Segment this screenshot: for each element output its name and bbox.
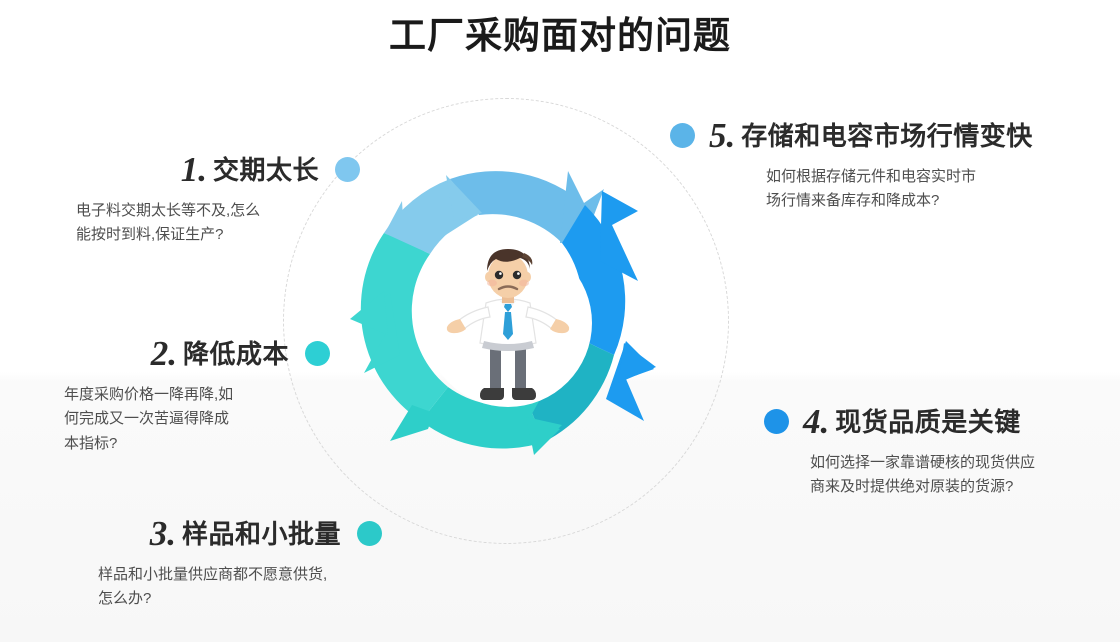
left-eye — [495, 271, 503, 279]
problem-item-1-heading: 交期太长 — [213, 157, 319, 183]
problem-item-3-header: 3. 样品和小批量 — [92, 516, 382, 551]
problem-item-4-number: 4. — [803, 404, 829, 439]
problem-item-1-header: 1. 交期太长 — [70, 152, 360, 187]
problem-item-4-heading: 现货品质是关键 — [835, 409, 1021, 435]
problem-item-5-number: 5. — [709, 118, 735, 153]
problem-item-3: 3. 样品和小批量 样品和小批量供应商都不愿意供货, 怎么办? — [92, 516, 382, 612]
right-shoe — [512, 388, 536, 400]
problem-item-4: 4. 现货品质是关键 如何选择一家靠谱硬核的现货供应 商来及时提供绝对原装的货源… — [764, 404, 1064, 500]
left-shoe — [480, 388, 504, 400]
right-eye-glint — [517, 272, 520, 275]
left-eye-glint — [499, 272, 502, 275]
problem-item-4-header: 4. 现货品质是关键 — [764, 404, 1064, 439]
problem-item-2-header: 2. 降低成本 — [52, 336, 330, 371]
problem-item-1-number: 1. — [181, 152, 207, 187]
problem-item-1-description: 电子料交期太长等不及,怎么 能按时到料,保证生产? — [76, 199, 360, 248]
problem-item-3-description: 样品和小批量供应商都不愿意供货, 怎么办? — [98, 563, 382, 612]
problem-item-3-number: 3. — [150, 516, 176, 551]
problem-item-5-header: 5. 存储和电容市场行情变快 — [670, 118, 1070, 153]
page-title: 工厂采购面对的问题 — [0, 8, 1120, 64]
shrugging-businessman-illustration — [424, 239, 592, 407]
problem-item-5-description: 如何根据存储元件和电容实时市 场行情来备库存和降成本? — [766, 165, 1070, 214]
problem-item-5-heading: 存储和电容市场行情变快 — [741, 123, 1033, 149]
problem-item-3-dot — [357, 521, 382, 546]
problem-item-5-dot — [670, 123, 695, 148]
left-cheek — [487, 280, 497, 287]
right-cheek — [519, 280, 529, 287]
problem-item-2-description: 年度采购价格一降再降,如 何完成又一次苦逼得降成 本指标? — [64, 383, 330, 456]
problem-item-1: 1. 交期太长 电子料交期太长等不及,怎么 能按时到料,保证生产? — [70, 152, 360, 248]
problem-item-4-dot — [764, 409, 789, 434]
problem-item-5: 5. 存储和电容市场行情变快 如何根据存储元件和电容实时市 场行情来备库存和降成… — [670, 118, 1070, 214]
right-eye — [513, 271, 521, 279]
problem-item-2-heading: 降低成本 — [183, 341, 289, 367]
problem-item-2-number: 2. — [151, 336, 177, 371]
problem-item-1-dot — [335, 157, 360, 182]
problem-item-4-description: 如何选择一家靠谱硬核的现货供应 商来及时提供绝对原装的货源? — [810, 451, 1064, 500]
problem-item-2-dot — [305, 341, 330, 366]
arrow-head-right — [618, 343, 656, 383]
problem-item-3-heading: 样品和小批量 — [182, 521, 341, 547]
problem-item-2: 2. 降低成本 年度采购价格一降再降,如 何完成又一次苦逼得降成 本指标? — [52, 336, 330, 456]
infographic-canvas: 工厂采购面对的问题 — [0, 0, 1120, 642]
